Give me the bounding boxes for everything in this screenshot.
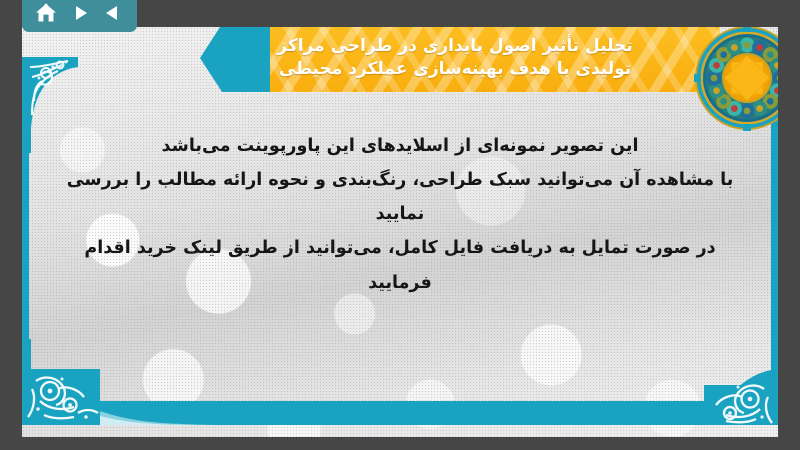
- body-line-1: این تصویر نمونه‌ای از اسلایدهای این پاور…: [52, 129, 748, 163]
- home-icon: [35, 3, 57, 23]
- title-band: تحلیل تأثیر اصول پایداری در طراحی مراکز …: [252, 27, 720, 92]
- body-line-3: در صورت تمایل به دریافت فایل کامل، می‌تو…: [52, 231, 748, 299]
- banner-arrow-icon: [200, 27, 270, 92]
- slide-viewer: تحلیل تأثیر اصول پایداری در طراحی مراکز …: [0, 0, 800, 450]
- forward-button[interactable]: [67, 1, 93, 25]
- back-button[interactable]: [100, 1, 126, 25]
- triangle-left-icon: [103, 3, 123, 23]
- border-left: [22, 57, 29, 401]
- page-title: تحلیل تأثیر اصول پایداری در طراحی مراکز …: [264, 35, 646, 82]
- body-line-2: با مشاهده آن می‌توانید سبک طراحی، رنگ‌بن…: [52, 163, 748, 231]
- border-bottom: [22, 401, 778, 425]
- triangle-right-icon: [70, 3, 90, 23]
- slide-title-banner: تحلیل تأثیر اصول پایداری در طراحی مراکز …: [200, 27, 720, 92]
- navigation-bar: [22, 0, 137, 32]
- home-button[interactable]: [33, 1, 59, 25]
- persian-medallion-icon: [694, 27, 778, 131]
- slide-canvas: تحلیل تأثیر اصول پایداری در طراحی مراکز …: [22, 27, 778, 437]
- slide-body-text: این تصویر نمونه‌ای از اسلایدهای این پاور…: [52, 129, 748, 300]
